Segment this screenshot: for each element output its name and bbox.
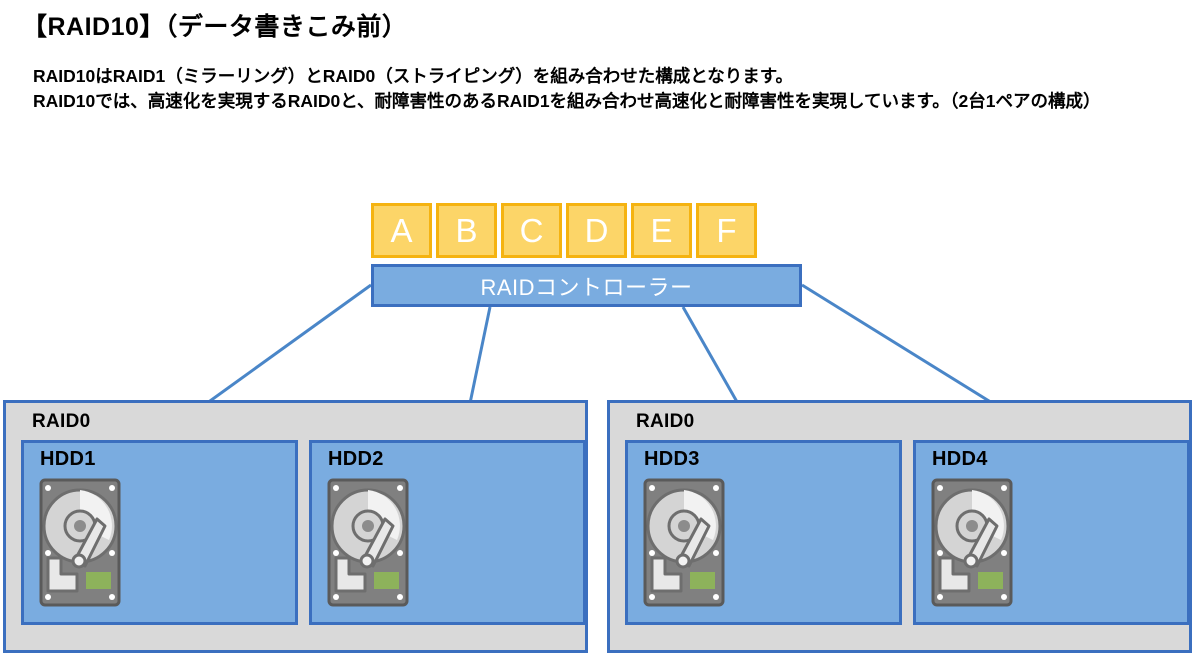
hard-disk-icon	[327, 478, 409, 607]
data-block-c[interactable]: C	[501, 203, 562, 258]
hdd-label: HDD1	[40, 448, 96, 471]
data-block-label: C	[520, 214, 544, 247]
raid-controller-label: RAIDコントローラー	[480, 270, 692, 302]
hdd-box-hdd3[interactable]: HDD3	[625, 440, 902, 625]
data-block-d[interactable]: D	[566, 203, 627, 258]
description-line-1: RAID10はRAID1（ミラーリング）とRAID0（ストライピング）を組み合わ…	[33, 64, 1183, 89]
hard-disk-icon	[39, 478, 121, 607]
hdd-label: HDD3	[644, 448, 700, 471]
data-block-b[interactable]: B	[436, 203, 497, 258]
description-line-2: RAID10では、高速化を実現するRAID0と、耐障害性のあるRAID1を組み合…	[33, 89, 1183, 114]
description-block: RAID10はRAID1（ミラーリング）とRAID0（ストライピング）を組み合わ…	[33, 64, 1183, 113]
page-title: 【RAID10】（データ書きこみ前）	[22, 7, 407, 43]
data-block-label: B	[455, 214, 477, 247]
raid0-group-label: RAID0	[636, 411, 695, 433]
raid-controller[interactable]: RAIDコントローラー	[371, 264, 802, 307]
data-block-label: E	[650, 214, 672, 247]
data-block-e[interactable]: E	[631, 203, 692, 258]
raid0-group-right: RAID0 HDD3 HDD4	[607, 400, 1192, 653]
hdd-label: HDD4	[932, 448, 988, 471]
hdd-box-hdd4[interactable]: HDD4	[913, 440, 1190, 625]
hdd-box-hdd1[interactable]: HDD1	[21, 440, 298, 625]
data-block-a[interactable]: A	[371, 203, 432, 258]
data-block-label: A	[390, 214, 412, 247]
data-block-label: D	[585, 214, 609, 247]
hard-disk-icon	[931, 478, 1013, 607]
hdd-box-hdd2[interactable]: HDD2	[309, 440, 586, 625]
data-block-f[interactable]: F	[696, 203, 757, 258]
raid0-group-left: RAID0 HDD1 HDD2	[3, 400, 588, 653]
data-block-row: A B C D E F	[371, 203, 757, 258]
hard-disk-icon	[643, 478, 725, 607]
data-block-label: F	[716, 214, 736, 247]
hdd-label: HDD2	[328, 448, 384, 471]
raid0-group-label: RAID0	[32, 411, 91, 433]
